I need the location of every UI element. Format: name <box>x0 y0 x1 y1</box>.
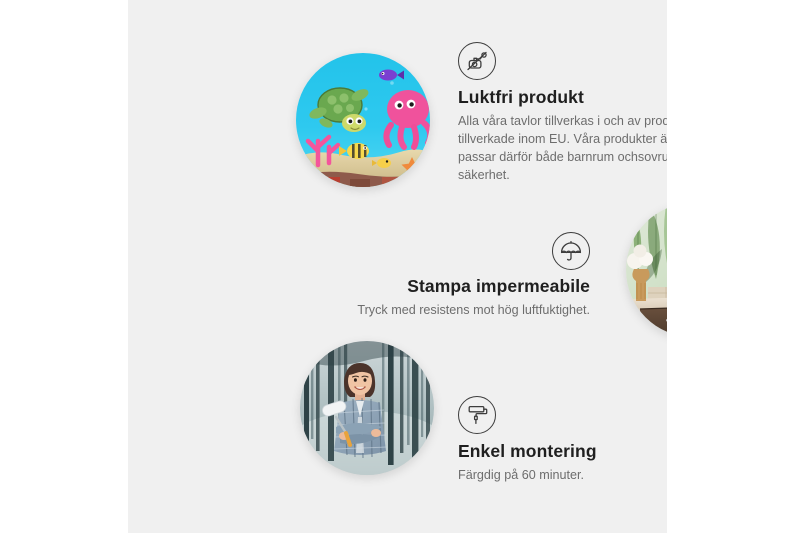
feature-description: Tryck med resistens mot hög luftfuktighe… <box>338 301 590 319</box>
feature-heading: Enkel montering <box>458 441 667 462</box>
feature-block-odour-free: Luktfri produkt Alla våra tavlor tillver… <box>458 42 667 184</box>
feature-description: Alla våra tavlor tillverkas i och av pro… <box>458 112 667 184</box>
image-woman-with-roller-forest-mural <box>300 341 434 475</box>
feature-block-easy-mounting: Enkel montering Färgdig på 60 minuter. <box>458 396 667 484</box>
image-underwater-cartoon-mural <box>296 53 430 187</box>
feature-heading: Stampa impermeabile <box>338 276 590 297</box>
feature-description: Färgdig på 60 minuter. <box>458 466 667 484</box>
feature-block-waterproof-print: Stampa impermeabile Tryck med resistens … <box>338 232 590 319</box>
infographic-canvas: Luktfri produkt Alla våra tavlor tillver… <box>0 0 800 533</box>
content-panel: Luktfri produkt Alla våra tavlor tillver… <box>128 0 667 533</box>
paint-roller-icon <box>458 396 496 434</box>
feature-heading: Luktfri produkt <box>458 87 667 108</box>
image-bathroom-tropical-wallpaper <box>626 203 667 337</box>
no-fragrance-icon <box>458 42 496 80</box>
umbrella-icon <box>552 232 590 270</box>
